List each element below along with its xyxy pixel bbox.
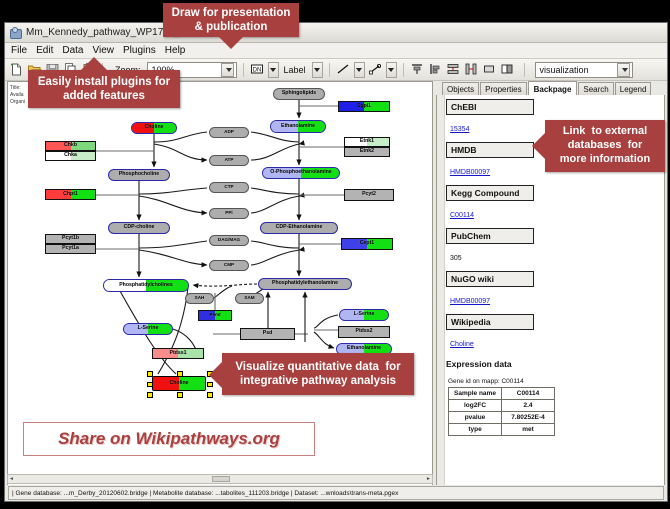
pathway-node[interactable]: PPi [209,208,249,219]
tab-legend[interactable]: Legend [615,82,652,95]
stack-icon[interactable] [446,62,461,77]
pathway-node-label: Etnk2 [360,149,374,154]
pathway-node[interactable]: Etnk1 [344,137,390,147]
pathway-node-label: PPi [225,211,232,216]
status-bar-area: | Gene database: ...m_Derby_20120602.bri… [5,485,667,501]
toolbar-separator-5 [524,63,525,77]
pathway-node[interactable]: O-Phosphoethanolamine [262,167,340,179]
pathway-node[interactable]: Pcyt1b [45,234,96,244]
pathway-node-label: SAM [244,296,254,301]
db-header: HMDB [446,142,534,158]
pathway-node[interactable]: CMP [209,260,249,271]
pathway-node-label: Cept1 [360,241,374,246]
table-cell: type [449,424,502,436]
menu-item-edit[interactable]: Edit [36,45,53,56]
table-cell: met [502,424,555,436]
selection-handle[interactable] [207,392,213,398]
canvas-hscrollbar[interactable]: ◄ ► [7,474,433,484]
pathway-node-label: ADP [224,130,234,135]
line-icon[interactable] [336,62,351,77]
pathway-node-label: Phosphatidylethanolamine [272,281,338,286]
backpage-scrollbar[interactable] [437,95,445,500]
expression-data-heading: Expression data [446,359,662,369]
menu-item-view[interactable]: View [92,45,114,56]
pathway-node[interactable]: Pcyt1a [45,244,96,254]
pathway-node[interactable]: Choline [152,376,206,391]
table-cell: C00114 [502,388,555,400]
callout-draw: Draw for presentation & publication [163,3,299,37]
pathway-node[interactable]: Sphingolipids [273,88,325,100]
pathway-node-label: Ptdss1 [169,351,186,356]
pathway-node-label: Chpt1 [63,192,78,197]
toolbar-separator-3 [329,63,330,77]
pathway-node-label: CTP [224,185,233,190]
pathway-node[interactable]: Chkb [45,141,96,151]
group-icon[interactable] [482,62,497,77]
table-cell: Sample name [449,388,502,400]
pathway-node-label: Etnk1 [360,139,374,144]
menu-item-help[interactable]: Help [165,45,186,56]
db-header: NuGO wiki [446,271,534,287]
db-link[interactable]: HMDB00097 [450,169,490,176]
pathway-node-label: L-Serine [138,326,159,331]
selection-handle[interactable] [147,382,153,388]
pathway-node[interactable]: Etnk2 [344,147,390,157]
interaction-dropdown-icon[interactable] [386,62,397,78]
pathway-node[interactable]: CTP [209,182,249,193]
scroll-right-arrow-icon[interactable]: ► [425,476,432,482]
pathway-node-label: CMP [224,263,234,268]
menu-item-file[interactable]: File [11,45,27,56]
pathway-node[interactable]: Ethanolamine [270,120,326,133]
pathway-node-label: L-Serine [354,312,375,317]
callout-plugins-arrow-icon [81,57,107,70]
table-row: Sample nameC00114 [449,388,555,400]
pathway-node-label: Phosphatidylcholines [119,283,173,288]
chevron-down-icon[interactable] [221,63,234,77]
callout-link: Link to external databases for more info… [545,120,665,172]
menu-item-data[interactable]: Data [62,45,83,56]
pathway-node[interactable]: Chka [45,151,96,161]
callout-plugins: Easily install plugins for added feature… [28,70,180,108]
db-header: Wikipedia [446,314,534,330]
pathway-node-label: O-Phosphoethanolamine [270,170,331,175]
db-value-row: 305 [446,247,662,271]
svg-text:DN: DN [252,68,261,74]
toolbar-separator-2 [243,63,244,77]
pathway-node-label: Ethanolamine [281,124,315,129]
line-dropdown-icon[interactable] [354,62,365,78]
pathway-node[interactable]: Ptdss2 [338,326,390,338]
table-cell: log2FC [449,400,502,412]
db-value-row: HMDB00097 [446,290,662,314]
scroll-left-arrow-icon[interactable]: ◄ [8,476,15,482]
tab-objects[interactable]: Objects [442,82,479,95]
pathway-node-label: Choline [144,125,163,130]
tab-properties[interactable]: Properties [480,82,526,95]
menu-item-plugins[interactable]: Plugins [123,45,156,56]
screenshot-root: Mm_Kennedy_pathway_WP1771_45176.gpml Fil… [0,0,670,509]
status-bar-text: | Gene database: ...m_Derby_20120602.bri… [12,490,398,497]
pathway-node-label: Pcyt1b [62,236,79,241]
pathway-node[interactable]: Choline [131,122,177,134]
pathway-node[interactable]: Cept1 [341,238,393,250]
pathway-node-label: Ptdss2 [355,329,372,334]
pathway-node[interactable]: Phosphatidylcholines [103,279,189,292]
distribute-icon[interactable] [464,62,479,77]
interaction-icon[interactable] [368,62,383,77]
align-top-icon[interactable] [410,62,425,77]
db-link[interactable]: HMDB00097 [450,298,490,305]
visualization-value: visualization [540,65,589,75]
pathway-node[interactable]: SAH [185,293,214,304]
table-cell: pvalue [449,412,502,424]
label-tool-label: Label [284,65,306,75]
pathway-node-label: SAH [195,296,205,301]
pathway-node[interactable]: L-Serine [339,309,389,321]
db-header: PubChem [446,228,534,244]
visualization-combo[interactable]: visualization [535,62,633,78]
callout-share: Share on Wikipathways.org [23,422,315,456]
selection-handle[interactable] [177,392,183,398]
pathway-node-label: Pemt [209,313,220,318]
db-header: Kegg Compound [446,185,534,201]
callout-visualize: Visualize quantitative data for integrat… [222,353,414,395]
db-value-row: C00114 [446,204,662,228]
status-bar: | Gene database: ...m_Derby_20120602.bri… [8,486,664,500]
db-link[interactable]: C00114 [450,212,474,219]
db-link[interactable]: 15354 [450,126,469,133]
selection-handle[interactable] [147,371,153,377]
selection-handle[interactable] [147,392,153,398]
label-dropdown-icon[interactable] [312,62,323,78]
pathway-node[interactable]: CDP-choline [108,222,170,234]
title-bar: Mm_Kennedy_pathway_WP1771_45176.gpml [5,23,667,43]
pathway-node-label: CDP-Ethanolamine [276,225,323,230]
pathway-node-label: Sgpl1 [357,104,371,109]
table-cell: 7.80252E-4 [502,412,555,424]
selection-handle[interactable] [177,371,183,377]
new-icon[interactable] [9,62,24,77]
side-panel-tabs: ObjectsPropertiesBackpageSearchLegend [436,81,665,96]
pathway-node-label: Choline [169,381,188,386]
pathway-node-label: Pcyt1a [62,246,79,251]
pathway-node[interactable]: Sgpl1 [338,101,390,112]
pathway-node[interactable]: Pemt [198,310,232,321]
pathway-node[interactable]: Ptdss1 [152,348,204,359]
db-link[interactable]: Choline [450,341,474,348]
pathway-node[interactable]: DAG/MAG [209,235,249,246]
pathway-node[interactable]: ATP [209,155,249,166]
pathway-node[interactable]: CDP-Ethanolamine [260,222,338,234]
db-header: ChEBI [446,99,534,115]
tab-backpage[interactable]: Backpage [528,81,578,96]
table-row: pvalue7.80252E-4 [449,412,555,424]
table-row: typemet [449,424,555,436]
order-icon[interactable] [500,62,515,77]
pathway-node[interactable]: Psd [240,328,295,340]
pathway-node-label: Chkb [64,143,77,148]
pathway-node[interactable]: ADP [209,127,249,138]
pathway-node[interactable]: SAM [235,293,264,304]
pathway-node[interactable]: L-Serine [123,323,173,335]
callout-share-text: Share on Wikipathways.org [58,429,280,449]
align-left-icon[interactable] [428,62,443,77]
pathway-node[interactable]: Pcyt2 [344,189,394,201]
pathway-node-label: Pcyt2 [362,192,376,197]
callout-link-arrow-icon [532,133,545,159]
db-value-row: Choline [446,333,662,357]
tab-search[interactable]: Search [578,82,613,95]
pathway-node-label: Phosphocholine [119,172,159,177]
pathvisio-icon [9,27,21,39]
pathway-node-label: ATP [225,158,234,163]
pathway-node-label: CDP-choline [124,225,155,230]
visualization-chevron-down-icon[interactable] [617,63,630,77]
callout-draw-arrow-icon [218,36,244,49]
pathway-node-label: Ethanolamine [347,346,381,351]
db-value: 305 [450,255,462,262]
table-cell: 2.4 [502,400,555,412]
scroll-thumb[interactable] [212,476,230,482]
pathway-node-label: Psd [263,331,273,336]
pathway-node-label: DAG/MAG [218,238,240,243]
pathway-node[interactable]: Chpt1 [45,189,96,200]
pathway-node-label: Sphingolipids [282,91,316,96]
datanode-icon[interactable]: DN [250,62,265,77]
table-row: log2FC2.4 [449,400,555,412]
pathway-node-label: Chka [64,153,77,158]
pathway-node[interactable]: Phosphatidylethanolamine [258,278,352,290]
toolbar-separator-4 [403,63,404,77]
datanode-dropdown-icon[interactable] [268,62,279,78]
pathway-node[interactable]: Phosphocholine [108,169,170,181]
callout-visualize-arrow-icon [209,362,222,388]
gene-id-line: Gene id on mapp: C00114 [448,378,662,385]
expression-table: Sample nameC00114log2FC2.4pvalue7.80252E… [448,387,555,436]
